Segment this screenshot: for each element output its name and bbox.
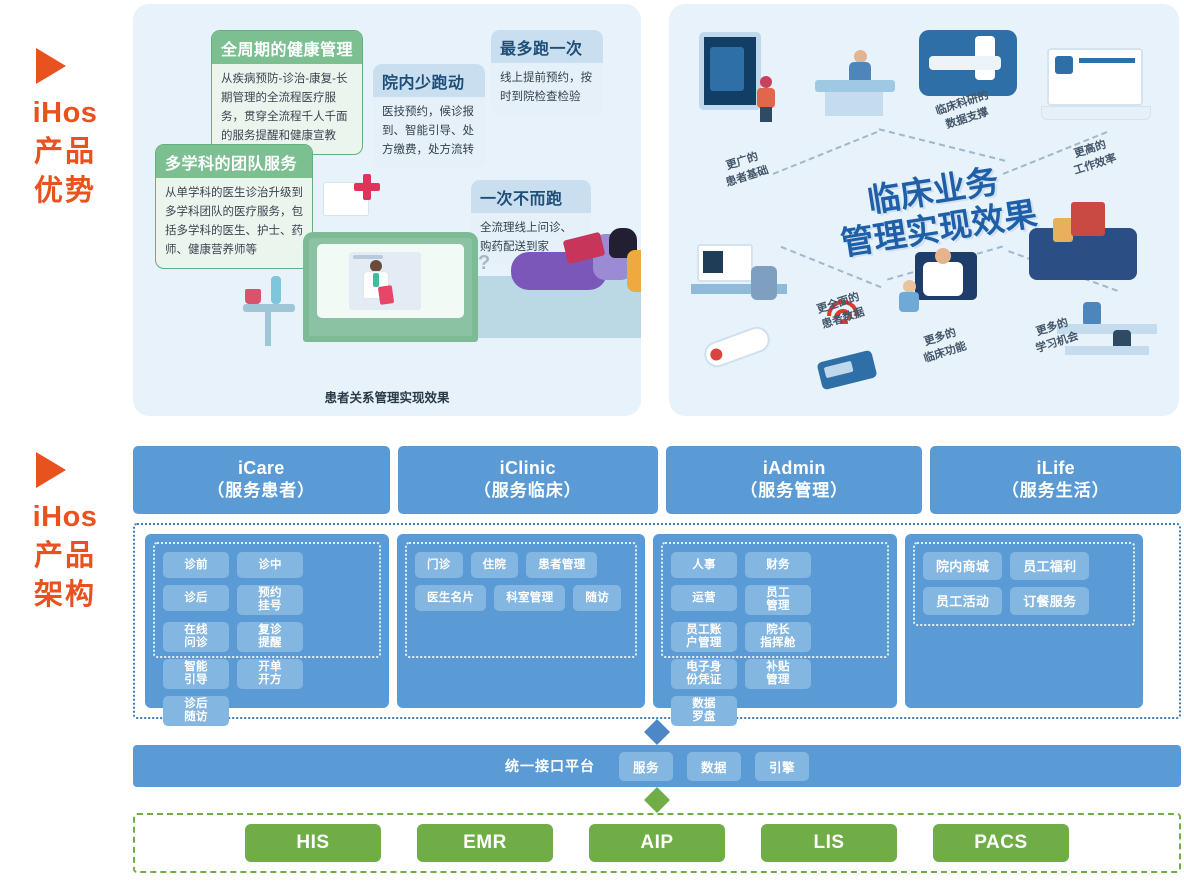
module-chip[interactable]: 复诊 提醒: [237, 622, 303, 652]
callout-title: 全周期的健康管理: [212, 31, 362, 64]
system-pacs[interactable]: PACS: [933, 824, 1069, 862]
question-mark-icon: ?: [478, 252, 490, 275]
platform-tag-data[interactable]: 数据: [687, 752, 741, 781]
category-en: iClinic: [402, 457, 654, 480]
category-en: iAdmin: [670, 457, 919, 480]
rail-advantage-title: iHos 产品 优势: [0, 94, 130, 211]
clinical-effect-panel: 临床业务 管理实现效果 更广的 患者基础 临床科研的 数据支撑 更­­高的 工作…: [669, 4, 1179, 416]
laptop-illustration-icon: [303, 232, 478, 342]
standing-person-icon: [757, 76, 775, 122]
rail-advantage: iHos 产品 优势: [0, 48, 130, 211]
modules-container: 诊前诊中诊后预约 挂号在线 问诊复诊 提醒智能 引导开单 开方诊后 随访 门诊住…: [133, 523, 1181, 719]
callout-body: 从疾病预防-诊治-康复-长期管理的全流程医疗服务，贯穿全流程千人千面的服务提醒和…: [212, 64, 362, 154]
module-chip[interactable]: 在线 问诊: [163, 622, 229, 652]
category-icare[interactable]: iCare （服务患者）: [133, 446, 390, 514]
rail-architecture-title: iHos 产品 架构: [0, 498, 130, 615]
module-chip[interactable]: 电子身 份凭证: [671, 659, 737, 689]
module-chip[interactable]: 随访: [573, 585, 621, 611]
integration-platform-bar: 统一接口平台 服务 数据 引擎: [133, 745, 1181, 787]
laptop-records-icon: [1041, 48, 1151, 130]
module-chip[interactable]: 人事: [671, 552, 737, 578]
rail-advantage-cn2: 优势: [0, 172, 130, 211]
module-iadmin-chips: 人事财务运营员工 管理员工账 户管理院长 指挥舱电子身 份凭证补贴 管理数据 罗…: [661, 542, 889, 658]
cup-icon: [245, 289, 261, 304]
rail-advantage-en: iHos: [0, 94, 130, 133]
callout-one-trip: 最多跑一次 线上提前预约，按时到院检查检验: [491, 30, 603, 115]
module-chip[interactable]: 诊后: [163, 585, 229, 611]
module-chip[interactable]: 智能 引导: [163, 659, 229, 689]
system-emr[interactable]: EMR: [417, 824, 553, 862]
patient-advantage-panel: 全周期的健康管理 从疾病预防-诊治-康复-长期管理的全流程医疗服务，贯穿全流程千…: [133, 4, 641, 416]
callout-title: 多学科的团队服务: [156, 145, 312, 178]
category-iadmin[interactable]: iAdmin （服务管理）: [666, 446, 923, 514]
module-ilife-chips: 院内商城员工福利员工活动订餐服务: [913, 542, 1135, 626]
medical-cross-icon: [352, 172, 382, 202]
callout-title: 院内少跑动: [373, 64, 485, 97]
slide-canvas: iHos 产品 优势 iHos 产品 架构 全周期的健康管理 从疾病预防-诊治-…: [0, 0, 1184, 886]
category-cn: （服务患者）: [137, 480, 386, 502]
illustration-row: 全周期的健康管理 从疾病预防-诊治-康复-长期管理的全流程医疗服务，贯穿全流程千…: [133, 4, 1179, 416]
arrow-row-upper: [133, 719, 1181, 745]
platform-tag-engine[interactable]: 引擎: [755, 752, 809, 781]
workstation-icon: [691, 244, 787, 322]
module-chip[interactable]: 院长 指挥舱: [745, 622, 811, 652]
module-icare-chips: 诊前诊中诊后预约 挂号在线 问诊复诊 提醒智能 引导开单 开方诊后 随访: [153, 542, 381, 658]
rail-advantage-cn1: 产品: [0, 133, 130, 172]
rail-architecture-cn1: 产品: [0, 537, 130, 576]
module-chip[interactable]: 门诊: [415, 552, 463, 578]
module-icare: 诊前诊中诊后预约 挂号在线 问诊复诊 提醒智能 引导开单 开方诊后 随访: [145, 534, 389, 708]
category-cn: （服务生活）: [934, 480, 1177, 502]
category-en: iLife: [934, 457, 1177, 480]
node-patient-base: 更广的 患者基础: [700, 142, 790, 198]
system-his[interactable]: HIS: [245, 824, 381, 862]
callout-title: 最多跑一次: [491, 30, 603, 63]
category-ilife[interactable]: iLife （服务生活）: [930, 446, 1181, 514]
patient-on-sofa-icon: [501, 232, 641, 296]
module-chip[interactable]: 诊前: [163, 552, 229, 578]
module-iclinic-chips: 门诊住院患者管理医生名片科室管理随访: [405, 542, 637, 658]
double-arrow-blue-icon: [644, 719, 670, 745]
bottle-icon: [271, 276, 281, 304]
system-lis[interactable]: LIS: [761, 824, 897, 862]
glucose-meter-icon: [816, 350, 877, 391]
module-chip[interactable]: 预约 挂号: [237, 585, 303, 615]
platform-tag-service[interactable]: 服务: [619, 752, 673, 781]
patient-panel-caption: 患者关系管理实现效果: [133, 387, 641, 406]
callout-in-hospital: 院内少跑动 医技预约，候诊报到、智能引导、处方缴费，处方流转: [373, 64, 485, 168]
module-iadmin: 人事财务运营员工 管理员工账 户管理院长 指挥舱电子身 份凭证补贴 管理数据 罗…: [653, 534, 897, 708]
platform-title: 统一接口平台: [505, 756, 595, 776]
side-table-icon: [243, 304, 295, 312]
module-chip[interactable]: 开单 开方: [237, 659, 303, 689]
system-aip[interactable]: AIP: [589, 824, 725, 862]
core-systems-container: HIS EMR AIP LIS PACS: [133, 813, 1181, 873]
callout-body: 医技预约，候诊报到、智能引导、处方缴费，处方流转: [373, 97, 485, 168]
arrow-row-lower: [133, 787, 1181, 813]
module-chip[interactable]: 院内商城: [923, 552, 1002, 580]
category-iclinic[interactable]: iClinic （服务临床）: [398, 446, 658, 514]
module-chip[interactable]: 医生名片: [415, 585, 486, 611]
thermometer-icon: [701, 323, 774, 371]
category-en: iCare: [137, 457, 386, 480]
triangle-bullet-icon: [36, 452, 66, 488]
callout-multidisciplinary-team: 多学科的团队服务 从单学科的医生诊治升级到多学科团队的医疗服务，包括多学科的医生…: [155, 144, 313, 269]
doctor-icon: [361, 260, 391, 306]
architecture-section: iCare （服务患者） iClinic （服务临床） iAdmin （服务管理…: [133, 446, 1181, 873]
callout-body: 线上提前预约，按时到院检查检验: [491, 63, 603, 115]
module-chip[interactable]: 运营: [671, 585, 737, 611]
doctor-child-icon: [891, 252, 977, 326]
module-chip[interactable]: 科室管理: [494, 585, 565, 611]
module-chip[interactable]: 员工 管理: [745, 585, 811, 615]
category-cn: （服务临床）: [402, 480, 654, 502]
module-chip[interactable]: 补贴 管理: [745, 659, 811, 689]
callout-title: 一次不而跑: [471, 180, 591, 213]
rail-architecture-en: iHos: [0, 498, 130, 537]
module-chip[interactable]: 员工活动: [923, 587, 1002, 615]
module-chip[interactable]: 患者管理: [526, 552, 597, 578]
module-chip[interactable]: 住院: [471, 552, 519, 578]
node-clinical-function: 更多的 临床功能: [898, 318, 988, 374]
callout-body: 从单学科的医生诊治升级到多学科团队的医疗服务，包括多学科的医生、护士、药师、健康…: [156, 178, 312, 268]
category-cn: （服务管理）: [670, 480, 919, 502]
module-chip[interactable]: 订餐服务: [1010, 587, 1089, 615]
module-chip[interactable]: 员工账 户管理: [671, 622, 737, 652]
triangle-bullet-icon: [36, 48, 66, 84]
module-chip[interactable]: 财务: [745, 552, 811, 578]
consulting-desk-icon: [815, 44, 895, 114]
double-arrow-green-icon: [644, 787, 670, 813]
rail-architecture-cn2: 架构: [0, 576, 130, 615]
module-ilife: 院内商城员工福利员工活动订餐服务: [905, 534, 1143, 708]
callout-health-management: 全周期的健康管理 从疾病预防-诊治-康复-长期管理的全流程医疗服务，贯穿全流程千…: [211, 30, 363, 155]
rail-architecture: iHos 产品 架构: [0, 452, 130, 615]
module-chip[interactable]: 诊中: [237, 552, 303, 578]
module-iclinic: 门诊住院患者管理医生名片科室管理随访: [397, 534, 645, 708]
module-chip[interactable]: 员工福利: [1010, 552, 1089, 580]
category-row: iCare （服务患者） iClinic （服务临床） iAdmin （服务管理…: [133, 446, 1181, 514]
wall-display-icon: [699, 32, 761, 110]
